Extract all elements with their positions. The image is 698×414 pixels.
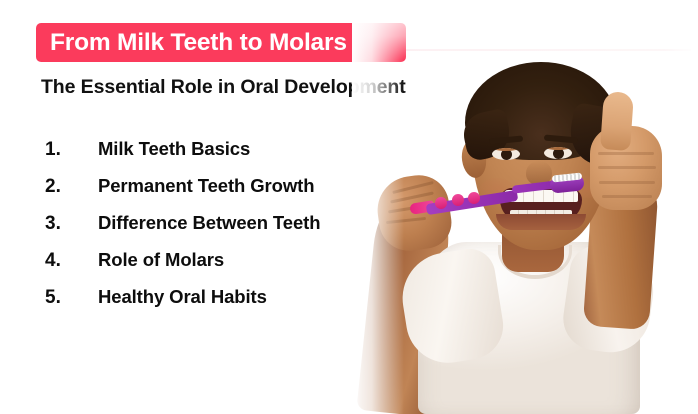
page-title: From Milk Teeth to Molars [50,29,347,57]
eye-left [492,148,520,160]
finger-line [598,166,656,169]
list-item-label: Milk Teeth Basics [98,138,250,160]
list-item-label: Role of Molars [98,249,224,271]
banner-canvas: From Milk Teeth to Molars The Essential … [0,0,698,414]
list-item-label: Healthy Oral Habits [98,286,267,308]
eye-right [544,147,572,159]
finger-line [599,181,655,184]
list-item: 2. Permanent Teeth Growth [45,175,405,212]
list-item-number: 1. [45,139,98,161]
title-badge: From Milk Teeth to Molars [36,23,406,62]
page-subtitle: The Essential Role in Oral Development [41,76,406,99]
eyelid-right [544,147,572,150]
thumb [600,91,634,151]
list-item-label: Difference Between Teeth [98,212,320,234]
list-item: 5. Healthy Oral Habits [45,286,405,323]
photo-edge-fade-top [352,0,698,60]
list-item: 1. Milk Teeth Basics [45,138,405,175]
list-item-number: 5. [45,287,98,309]
lower-lip [496,214,586,230]
list-item-label: Permanent Teeth Growth [98,175,314,197]
finger-line [598,152,654,155]
topic-list: 1. Milk Teeth Basics 2. Permanent Teeth … [45,138,405,323]
list-item-number: 3. [45,213,98,235]
eyelid-left [492,148,520,151]
list-item-number: 2. [45,176,98,198]
finger-line [602,195,652,198]
photo-edge-fade-right [664,0,698,414]
list-item-number: 4. [45,250,98,272]
child-photo [352,0,698,414]
list-item: 4. Role of Molars [45,249,405,286]
list-item: 3. Difference Between Teeth [45,212,405,249]
